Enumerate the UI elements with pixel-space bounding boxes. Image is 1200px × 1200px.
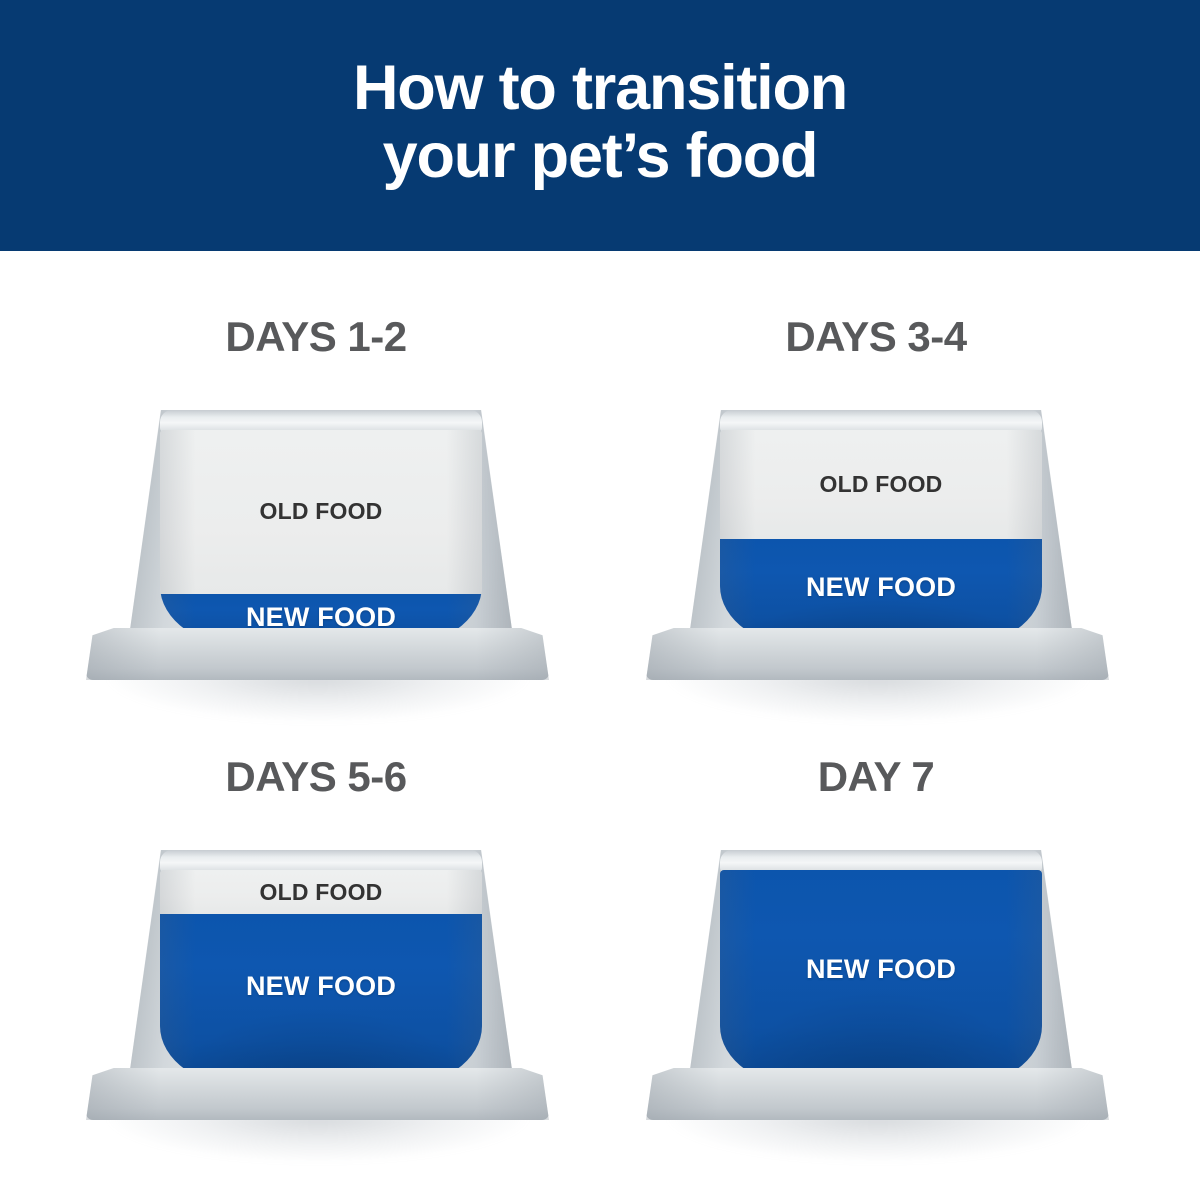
pet-food-bowl: OLD FOOD NEW FOOD	[646, 410, 1109, 710]
bowl-reflection	[668, 1116, 1088, 1162]
pet-food-bowl: OLD FOOD NEW FOOD	[86, 410, 549, 710]
panel-title-days-1-2: DAYS 1-2	[36, 316, 596, 358]
panel-day-7: DAY 7 NEW FOOD	[596, 756, 1156, 1196]
bowl-reflection	[108, 1116, 528, 1162]
bowl-rim	[720, 410, 1042, 432]
bowl-base-shading	[86, 628, 549, 680]
new-food-label: NEW FOOD	[160, 973, 482, 1000]
pet-food-bowl: NEW FOOD	[646, 850, 1109, 1150]
bowl-panel-grid: DAYS 1-2 OLD FOOD NEW FOOD	[0, 251, 1200, 1200]
panel-title-day-7: DAY 7	[596, 756, 1156, 798]
panel-title-days-5-6: DAYS 5-6	[36, 756, 596, 798]
food-well: OLD FOOD NEW FOOD	[160, 430, 482, 648]
bowl-rim	[160, 850, 482, 872]
old-food-label: OLD FOOD	[160, 881, 482, 904]
old-food-label: OLD FOOD	[720, 473, 1042, 496]
infographic-canvas: How to transition your pet’s food DAYS 1…	[0, 0, 1200, 1200]
new-food-label: NEW FOOD	[720, 956, 1042, 983]
bowl-base-shading	[646, 1068, 1109, 1120]
old-food-label: OLD FOOD	[160, 500, 482, 523]
panel-title-days-3-4: DAYS 3-4	[596, 316, 1156, 358]
panel-days-1-2: DAYS 1-2 OLD FOOD NEW FOOD	[36, 316, 596, 756]
page-title-line-1: How to transition	[353, 55, 847, 122]
new-food-label: NEW FOOD	[160, 604, 482, 631]
panel-days-5-6: DAYS 5-6 OLD FOOD NEW FOOD	[36, 756, 596, 1196]
pet-food-bowl: OLD FOOD NEW FOOD	[86, 850, 549, 1150]
panel-days-3-4: DAYS 3-4 OLD FOOD NEW FOOD	[596, 316, 1156, 756]
bowl-reflection	[668, 676, 1088, 722]
page-title-line-2: your pet’s food	[383, 123, 818, 190]
food-well: NEW FOOD	[720, 870, 1042, 1088]
header-banner: How to transition your pet’s food	[0, 0, 1200, 251]
bowl-rim	[160, 410, 482, 432]
food-well: OLD FOOD NEW FOOD	[720, 430, 1042, 648]
bowl-rim	[720, 850, 1042, 872]
bowl-reflection	[108, 676, 528, 722]
bowl-base-shading	[86, 1068, 549, 1120]
bowl-base-shading	[646, 628, 1109, 680]
new-food-label: NEW FOOD	[720, 574, 1042, 601]
food-well: OLD FOOD NEW FOOD	[160, 870, 482, 1088]
